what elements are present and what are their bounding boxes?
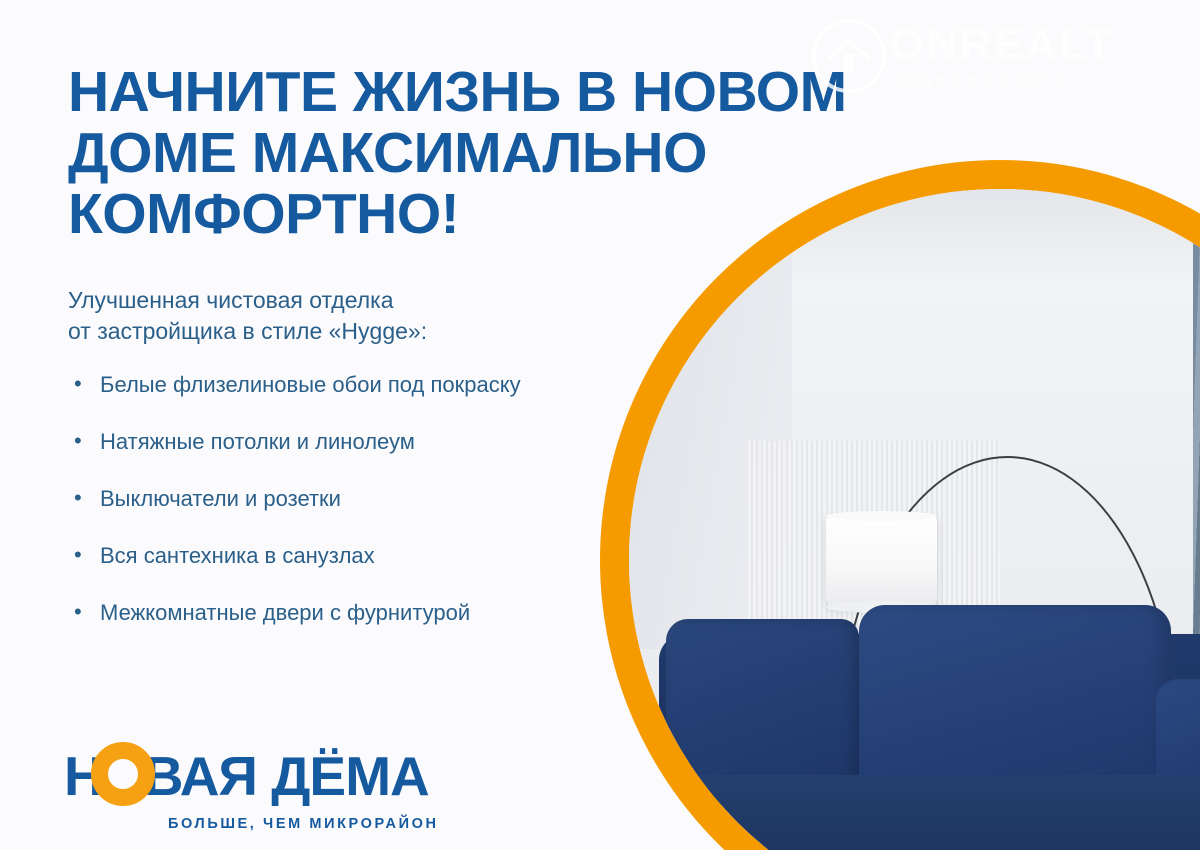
list-item: Вся сантехника в санузлах [70, 541, 600, 571]
features-list: Белые флизелиновые обои под покраску Нат… [70, 370, 600, 655]
photo-circle-orange-ring [600, 160, 1200, 850]
headline-line-2: ДОМЕ МАКСИМАЛЬНО [68, 123, 948, 184]
headline-line-1: НАЧНИТЕ ЖИЗНЬ В НОВОМ [68, 62, 948, 123]
interior-photo [629, 189, 1200, 850]
logo-orange-o-icon [91, 742, 155, 806]
subtitle: Улучшенная чистовая отделка от застройщи… [68, 285, 588, 347]
onrealt-title: ONREALT [890, 23, 1113, 67]
headline: НАЧНИТЕ ЖИЗНЬ В НОВОМ ДОМЕ МАКСИМАЛЬНО К… [68, 62, 948, 245]
nova-dema-logo: Н ВАЯ ДЁМА БОЛЬШЕ, ЧЕМ МИКРОРАЙОН [64, 745, 439, 832]
logo-wordmark-rest: ВАЯ ДЁМА [144, 749, 429, 804]
subtitle-line-1: Улучшенная чистовая отделка [68, 285, 588, 316]
list-item: Межкомнатные двери с фурнитурой [70, 598, 600, 628]
sofa-seat [644, 775, 1200, 850]
interior-scene [629, 189, 1200, 850]
list-item: Натяжные потолки и линолеум [70, 427, 600, 457]
lamp-shade [826, 515, 937, 608]
promo-banner: ONREALT НЕДВИЖИМОСТЬ НАЧНИТЕ ЖИЗНЬ В НОВ… [0, 0, 1200, 850]
logo-wordmark: Н ВАЯ ДЁМА [64, 745, 439, 807]
list-item: Белые флизелиновые обои под покраску [70, 370, 600, 400]
list-item: Выключатели и розетки [70, 484, 600, 514]
subtitle-line-2: от застройщика в стиле «Hygge»: [68, 316, 588, 347]
logo-tagline: БОЛЬШЕ, ЧЕМ МИКРОРАЙОН [168, 816, 439, 832]
headline-line-3: КОМФОРТНО! [68, 184, 948, 245]
